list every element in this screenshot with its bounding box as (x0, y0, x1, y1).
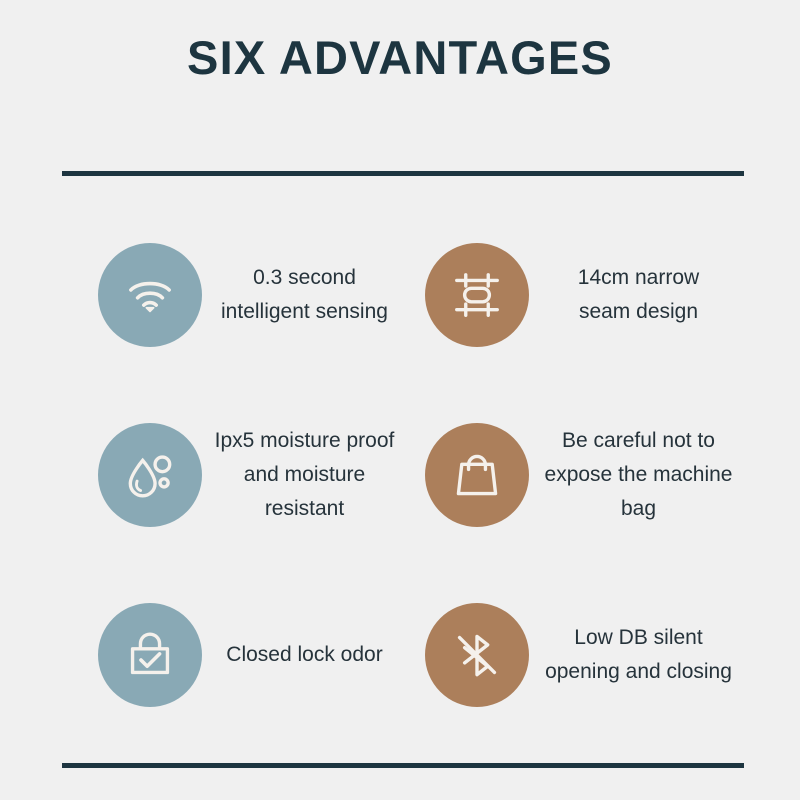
feature-badge (425, 243, 529, 347)
bluetooth-off-icon (450, 628, 504, 682)
page-title: SIX ADVANTAGES (0, 30, 800, 86)
feature-caption: 14cm narrow seam design (529, 261, 744, 329)
lock-check-icon (123, 628, 177, 682)
feature-badge (425, 423, 529, 527)
feature-item: Ipx5 moisture proof and moisture resista… (62, 385, 403, 565)
features-grid: 0.3 second intelligent sensing 14 (62, 205, 744, 745)
feature-caption: 0.3 second intelligent sensing (202, 261, 403, 329)
feature-caption: Low DB silent opening and closing (529, 621, 744, 689)
feature-badge (98, 423, 202, 527)
feature-item: Low DB silent opening and closing (403, 565, 744, 745)
infographic-page: SIX ADVANTAGES 0.3 second intelligent se… (0, 0, 800, 800)
feature-item: Be careful not to expose the machine bag (403, 385, 744, 565)
feature-item: 14cm narrow seam design (403, 205, 744, 385)
wifi-icon (123, 268, 177, 322)
narrow-seam-icon (450, 268, 504, 322)
feature-badge (98, 603, 202, 707)
shopping-bag-icon (450, 448, 504, 502)
feature-item: 0.3 second intelligent sensing (62, 205, 403, 385)
bottom-divider (62, 763, 744, 768)
water-drop-icon (123, 448, 177, 502)
feature-badge (98, 243, 202, 347)
top-divider (62, 171, 744, 176)
feature-badge (425, 603, 529, 707)
feature-caption: Ipx5 moisture proof and moisture resista… (202, 424, 403, 526)
feature-caption: Be careful not to expose the machine bag (529, 424, 744, 526)
feature-item: Closed lock odor (62, 565, 403, 745)
feature-caption: Closed lock odor (202, 638, 403, 672)
